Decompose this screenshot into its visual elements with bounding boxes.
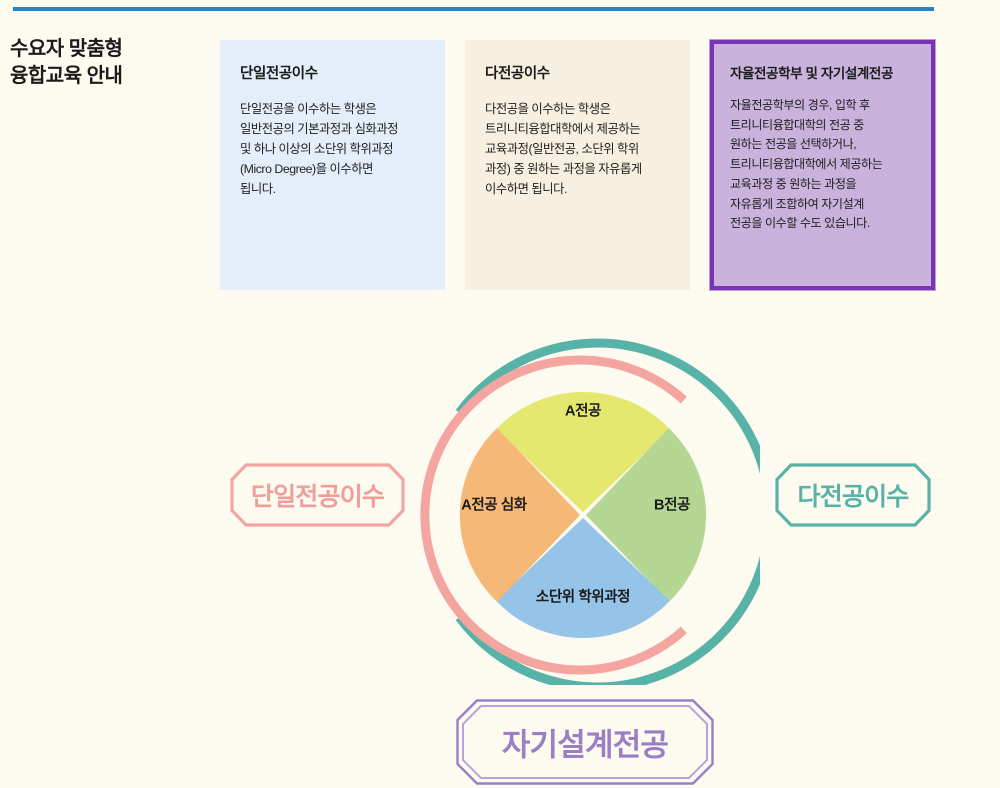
badge-label: 자기설계전공 xyxy=(502,720,668,765)
curriculum-wheel-diagram: A전공 B전공 소단위 학위과정 A전공 심화 단일전공이수 다전공이수 자기설… xyxy=(0,300,1000,788)
badge-multi-major: 다전공이수 xyxy=(774,462,932,528)
card-self-designed-major: 자율전공학부 및 자기설계전공 자율전공학부의 경우, 입학 후 트리니티융합대… xyxy=(710,40,935,290)
pie-label-a-major: A전공 xyxy=(565,400,601,421)
badge-single-major: 단일전공이수 xyxy=(229,462,406,528)
card-body: 자율전공학부의 경우, 입학 후 트리니티융합대학의 전공 중 원하는 전공을 … xyxy=(730,96,915,234)
card-multi-major: 다전공이수 다전공을 이수하는 학생은 트리니티융합대학에서 제공하는 교육과정… xyxy=(465,40,690,290)
card-single-major: 단일전공이수 단일전공을 이수하는 학생은 일반전공의 기본과정과 심화과정 및… xyxy=(220,40,445,290)
pie-label-b-major: B전공 xyxy=(654,494,690,515)
card-body: 다전공을 이수하는 학생은 트리니티융합대학에서 제공하는 교육과정(일반전공,… xyxy=(485,100,670,200)
card-title: 다전공이수 xyxy=(485,62,670,83)
card-body: 단일전공을 이수하는 학생은 일반전공의 기본과정과 심화과정 및 하나 이상의… xyxy=(240,100,425,200)
card-title: 단일전공이수 xyxy=(240,62,425,83)
pie-label-a-major-advanced: A전공 심화 xyxy=(461,494,526,515)
info-card-group: 단일전공이수 단일전공을 이수하는 학생은 일반전공의 기본과정과 심화과정 및… xyxy=(0,0,1000,300)
card-title: 자율전공학부 및 자기설계전공 xyxy=(730,62,915,82)
pie-label-micro-degree: 소단위 학위과정 xyxy=(536,586,630,607)
badge-label: 단일전공이수 xyxy=(251,477,384,513)
badge-label: 다전공이수 xyxy=(797,477,908,513)
badge-self-designed-major: 자기설계전공 xyxy=(455,698,715,786)
